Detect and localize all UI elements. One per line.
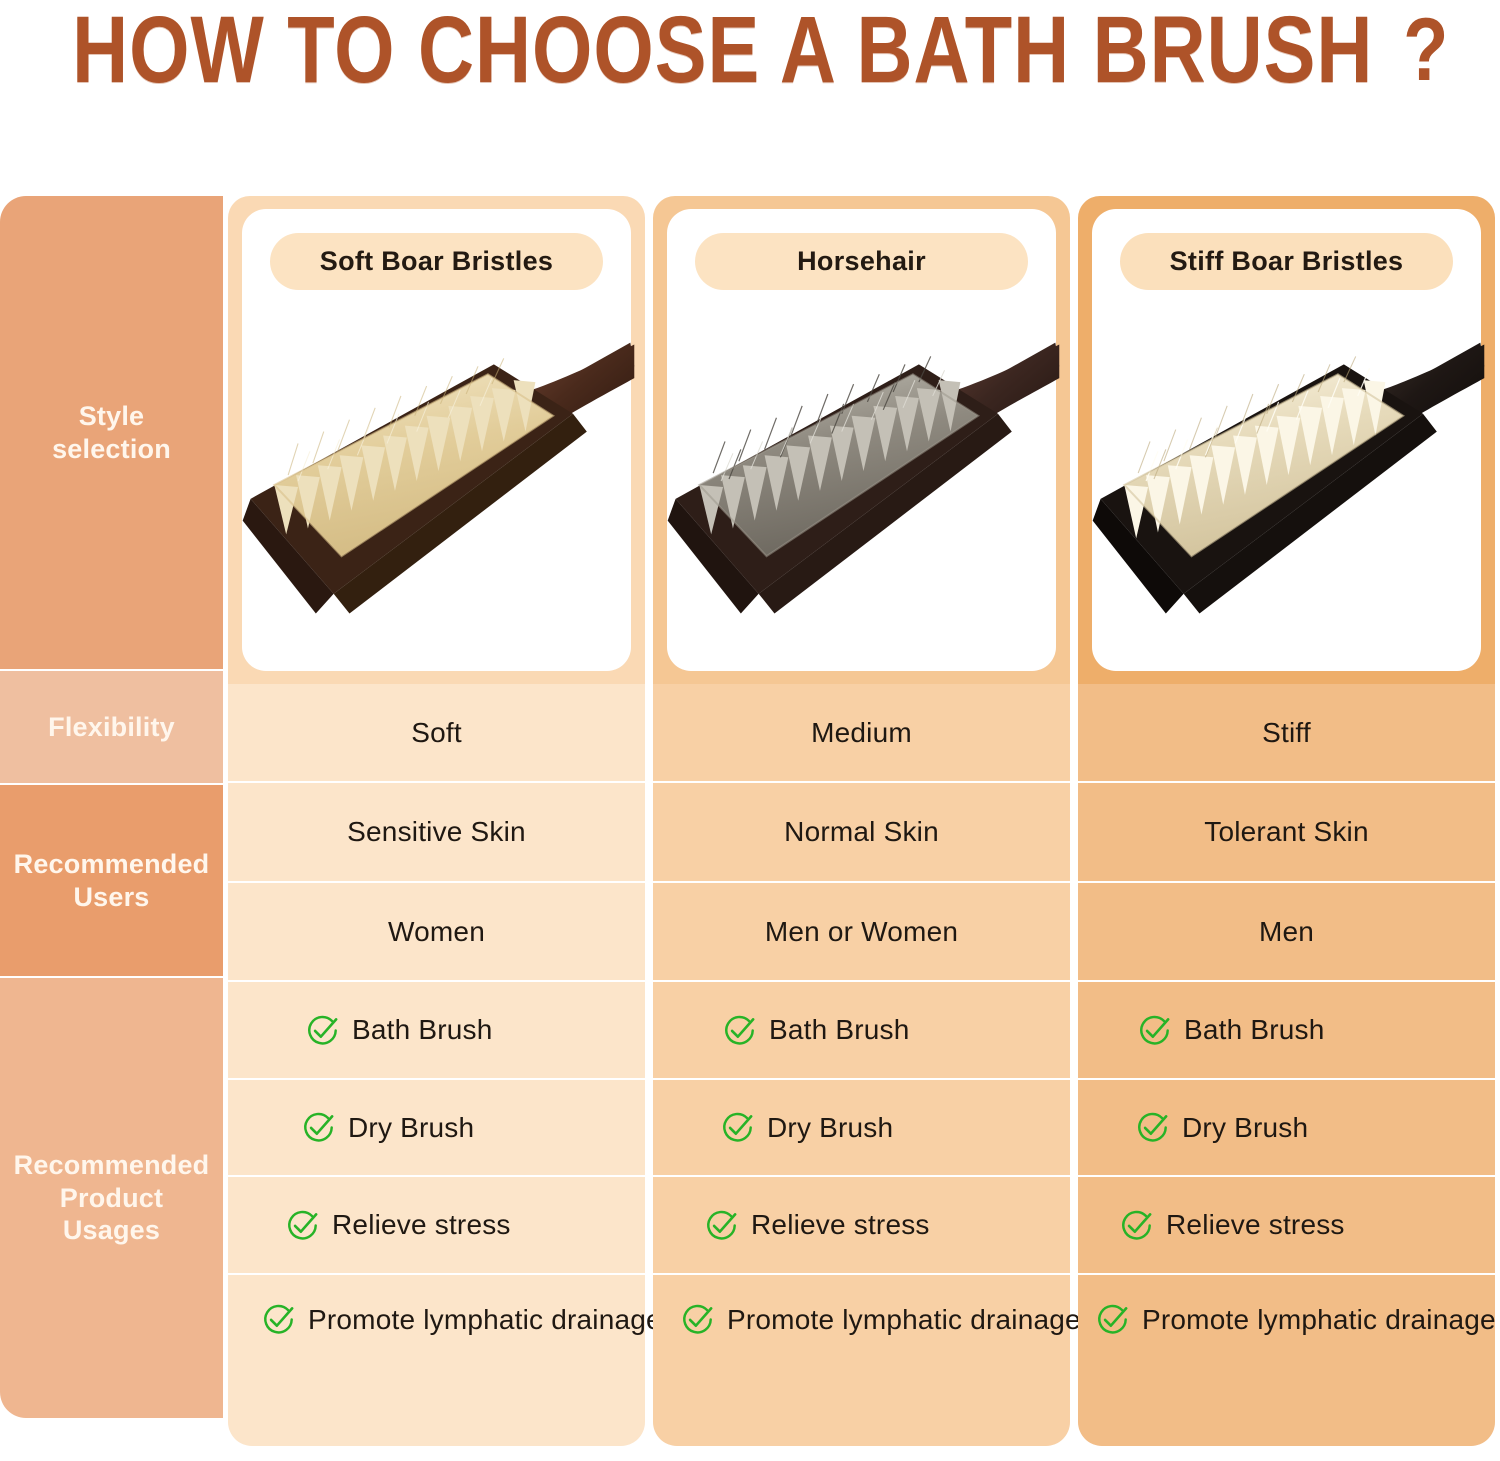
check-circle-icon xyxy=(262,1303,295,1336)
column-header-frame: Horsehair xyxy=(653,196,1070,684)
product-card: Soft Boar Bristles xyxy=(242,209,631,671)
check-circle-icon xyxy=(286,1209,319,1242)
usage-item: Bath Brush xyxy=(1138,1014,1325,1047)
row-label-line2: Product xyxy=(60,1183,163,1213)
column-soft-boar-bristles[interactable]: Soft Boar Bristles xyxy=(228,196,645,1446)
row-label-recommended-product-usages: Recommended Product Usages xyxy=(0,978,223,1418)
check-circle-icon xyxy=(1136,1111,1169,1144)
column-header-label: Stiff Boar Bristles xyxy=(1120,233,1453,290)
usage-item: Relieve stress xyxy=(286,1209,511,1242)
column-cells: Medium Normal Skin Men or Women Bath Bru… xyxy=(653,684,1070,1446)
cell-skin-type: Normal Skin xyxy=(653,783,1070,881)
cell-usage-promote-lymphatic-drainage: Promote lymphatic drainage xyxy=(228,1275,645,1446)
column-horsehair[interactable]: Horsehair xyxy=(653,196,1070,1446)
usage-item: Bath Brush xyxy=(723,1014,910,1047)
stiff-boar-bristle-brush-icon xyxy=(1086,305,1487,661)
column-header-label: Soft Boar Bristles xyxy=(270,233,603,290)
row-label-flexibility-text: Flexibility xyxy=(48,711,175,744)
cell-usage-dry-brush: Dry Brush xyxy=(228,1080,645,1175)
column-header-frame: Soft Boar Bristles xyxy=(228,196,645,684)
usage-item: Promote lymphatic drainage xyxy=(1096,1303,1496,1336)
row-label-style-selection-text: Style selection xyxy=(52,400,171,466)
comparison-table: Style selection Flexibility Recommended … xyxy=(0,196,1500,1446)
column-header-label: Horsehair xyxy=(695,233,1028,290)
check-circle-icon xyxy=(302,1111,335,1144)
horsehair-brush-icon xyxy=(661,305,1062,661)
cell-usage-relieve-stress: Relieve stress xyxy=(653,1177,1070,1273)
row-label-line1: Recommended xyxy=(14,1150,210,1180)
column-stiff-boar-bristles[interactable]: Stiff Boar Bristles xyxy=(1078,196,1495,1446)
cell-skin-type: Tolerant Skin xyxy=(1078,783,1495,881)
cell-usage-relieve-stress: Relieve stress xyxy=(1078,1177,1495,1273)
row-label-flexibility: Flexibility xyxy=(0,671,223,783)
cell-gender: Women xyxy=(228,883,645,980)
cell-usage-relieve-stress: Relieve stress xyxy=(228,1177,645,1273)
check-circle-icon xyxy=(1120,1209,1153,1242)
column-cells: Soft Sensitive Skin Women Bath Brush xyxy=(228,684,645,1446)
usage-label: Relieve stress xyxy=(332,1209,511,1241)
usage-label: Relieve stress xyxy=(1166,1209,1345,1241)
row-label-line2: selection xyxy=(52,434,171,464)
row-label-line3: Usages xyxy=(63,1215,160,1245)
cell-usage-dry-brush: Dry Brush xyxy=(653,1080,1070,1175)
usage-label: Bath Brush xyxy=(769,1014,910,1046)
check-circle-icon xyxy=(721,1111,754,1144)
check-circle-icon xyxy=(681,1303,714,1336)
soft-boar-bristle-brush-icon xyxy=(236,305,637,661)
usage-label: Promote lymphatic drainage xyxy=(1142,1304,1496,1336)
usage-label: Bath Brush xyxy=(1184,1014,1325,1046)
page-title-text: HOW TO CHOOSE A BATH BRUSH xyxy=(72,0,1373,104)
check-circle-icon xyxy=(1096,1303,1129,1336)
usage-item: Relieve stress xyxy=(1120,1209,1345,1242)
stiff-boar-bristle-brush-image xyxy=(1086,305,1487,661)
usage-item: Dry Brush xyxy=(721,1111,893,1144)
soft-boar-bristle-brush-image xyxy=(236,305,637,661)
row-label-line1: Recommended xyxy=(14,849,210,879)
column-cells: Stiff Tolerant Skin Men Bath Brush xyxy=(1078,684,1495,1446)
column-header-frame: Stiff Boar Bristles xyxy=(1078,196,1495,684)
cell-usage-bath-brush: Bath Brush xyxy=(653,982,1070,1078)
check-circle-icon xyxy=(723,1014,756,1047)
usage-item: Promote lymphatic drainage xyxy=(681,1303,1081,1336)
cell-usage-promote-lymphatic-drainage: Promote lymphatic drainage xyxy=(1078,1275,1495,1446)
cell-usage-dry-brush: Dry Brush xyxy=(1078,1080,1495,1175)
infographic-page: HOW TO CHOOSE A BATH BRUSH? Style select… xyxy=(0,0,1500,1461)
usage-item: Bath Brush xyxy=(306,1014,493,1047)
cell-flexibility: Medium xyxy=(653,684,1070,781)
row-label-recommended-users: Recommended Users xyxy=(0,785,223,976)
page-title: HOW TO CHOOSE A BATH BRUSH? xyxy=(0,2,1500,97)
row-label-line1: Style xyxy=(79,401,145,431)
usage-label: Dry Brush xyxy=(348,1112,474,1144)
cell-gender: Men or Women xyxy=(653,883,1070,980)
usage-label: Bath Brush xyxy=(352,1014,493,1046)
usage-item: Relieve stress xyxy=(705,1209,930,1242)
horsehair-brush-image xyxy=(661,305,1062,661)
cell-flexibility: Soft xyxy=(228,684,645,781)
cell-usage-bath-brush: Bath Brush xyxy=(1078,982,1495,1078)
check-circle-icon xyxy=(306,1014,339,1047)
row-label-recommended-users-text: Recommended Users xyxy=(14,848,210,914)
check-circle-icon xyxy=(1138,1014,1171,1047)
usage-label: Dry Brush xyxy=(767,1112,893,1144)
usage-label: Promote lymphatic drainage xyxy=(727,1304,1081,1336)
cell-skin-type: Sensitive Skin xyxy=(228,783,645,881)
usage-item: Promote lymphatic drainage xyxy=(262,1303,662,1336)
page-title-question-mark: ? xyxy=(1403,0,1448,100)
row-label-column: Style selection Flexibility Recommended … xyxy=(0,196,223,1418)
usage-item: Dry Brush xyxy=(1136,1111,1308,1144)
usage-label: Relieve stress xyxy=(751,1209,930,1241)
check-circle-icon xyxy=(705,1209,738,1242)
row-label-style-selection: Style selection xyxy=(0,196,223,669)
usage-label: Dry Brush xyxy=(1182,1112,1308,1144)
cell-gender: Men xyxy=(1078,883,1495,980)
cell-flexibility: Stiff xyxy=(1078,684,1495,781)
product-card: Stiff Boar Bristles xyxy=(1092,209,1481,671)
cell-usage-promote-lymphatic-drainage: Promote lymphatic drainage xyxy=(653,1275,1070,1446)
usage-item: Dry Brush xyxy=(302,1111,474,1144)
row-label-recommended-product-usages-text: Recommended Product Usages xyxy=(14,1149,210,1248)
row-label-line2: Users xyxy=(73,882,149,912)
cell-usage-bath-brush: Bath Brush xyxy=(228,982,645,1078)
product-card: Horsehair xyxy=(667,209,1056,671)
usage-label: Promote lymphatic drainage xyxy=(308,1304,662,1336)
